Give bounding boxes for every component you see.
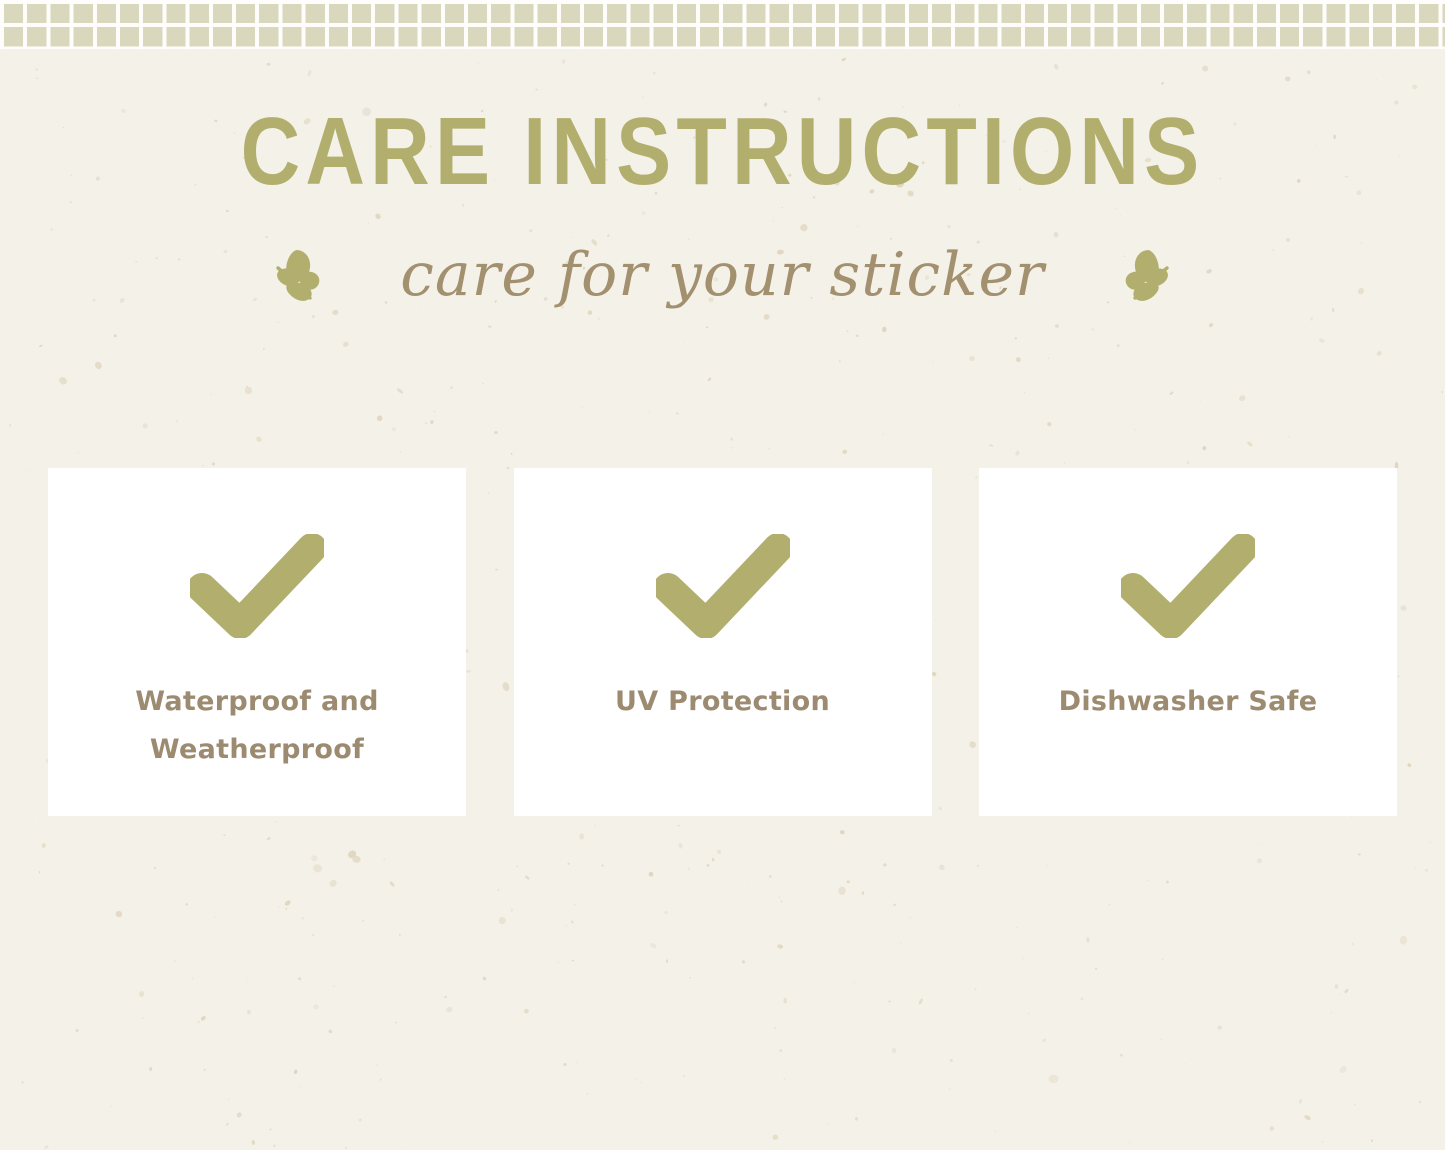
grid-lines — [0, 0, 1445, 53]
checkmark-icon — [190, 534, 324, 638]
feature-card-label-line1: Dishwasher Safe — [1023, 678, 1353, 726]
checkmark-icon — [1121, 534, 1255, 638]
feature-card-label-line1: UV Protection — [558, 678, 888, 726]
subtitle-row: care for your sticker — [0, 228, 1445, 322]
checkered-grid-band — [0, 0, 1445, 53]
feature-card-label-line1: Waterproof and — [92, 678, 422, 726]
leaf-sprig-right-icon — [1119, 244, 1175, 306]
page-subtitle: care for your sticker — [400, 239, 1044, 311]
feature-card-label: UV Protection — [558, 678, 888, 726]
checkmark-icon — [656, 534, 790, 638]
feature-card-dishwasher-safe: Dishwasher Safe — [979, 468, 1397, 816]
checkmark-wrap — [1121, 530, 1255, 642]
feature-card-label-line2: Weatherproof — [92, 726, 422, 774]
feature-card-list: Waterproof and Weatherproof UV Protectio… — [48, 468, 1397, 816]
feature-card-label: Dishwasher Safe — [1023, 678, 1353, 726]
feature-card-uv-protection: UV Protection — [514, 468, 932, 816]
checkmark-wrap — [190, 530, 324, 642]
band-bottom-edge — [0, 49, 1445, 53]
feature-card-label: Waterproof and Weatherproof — [92, 678, 422, 774]
checkmark-wrap — [656, 530, 790, 642]
page-title: CARE INSTRUCTIONS — [101, 104, 1344, 200]
feature-card-waterproof: Waterproof and Weatherproof — [48, 468, 466, 816]
leaf-sprig-left-icon — [270, 244, 326, 306]
